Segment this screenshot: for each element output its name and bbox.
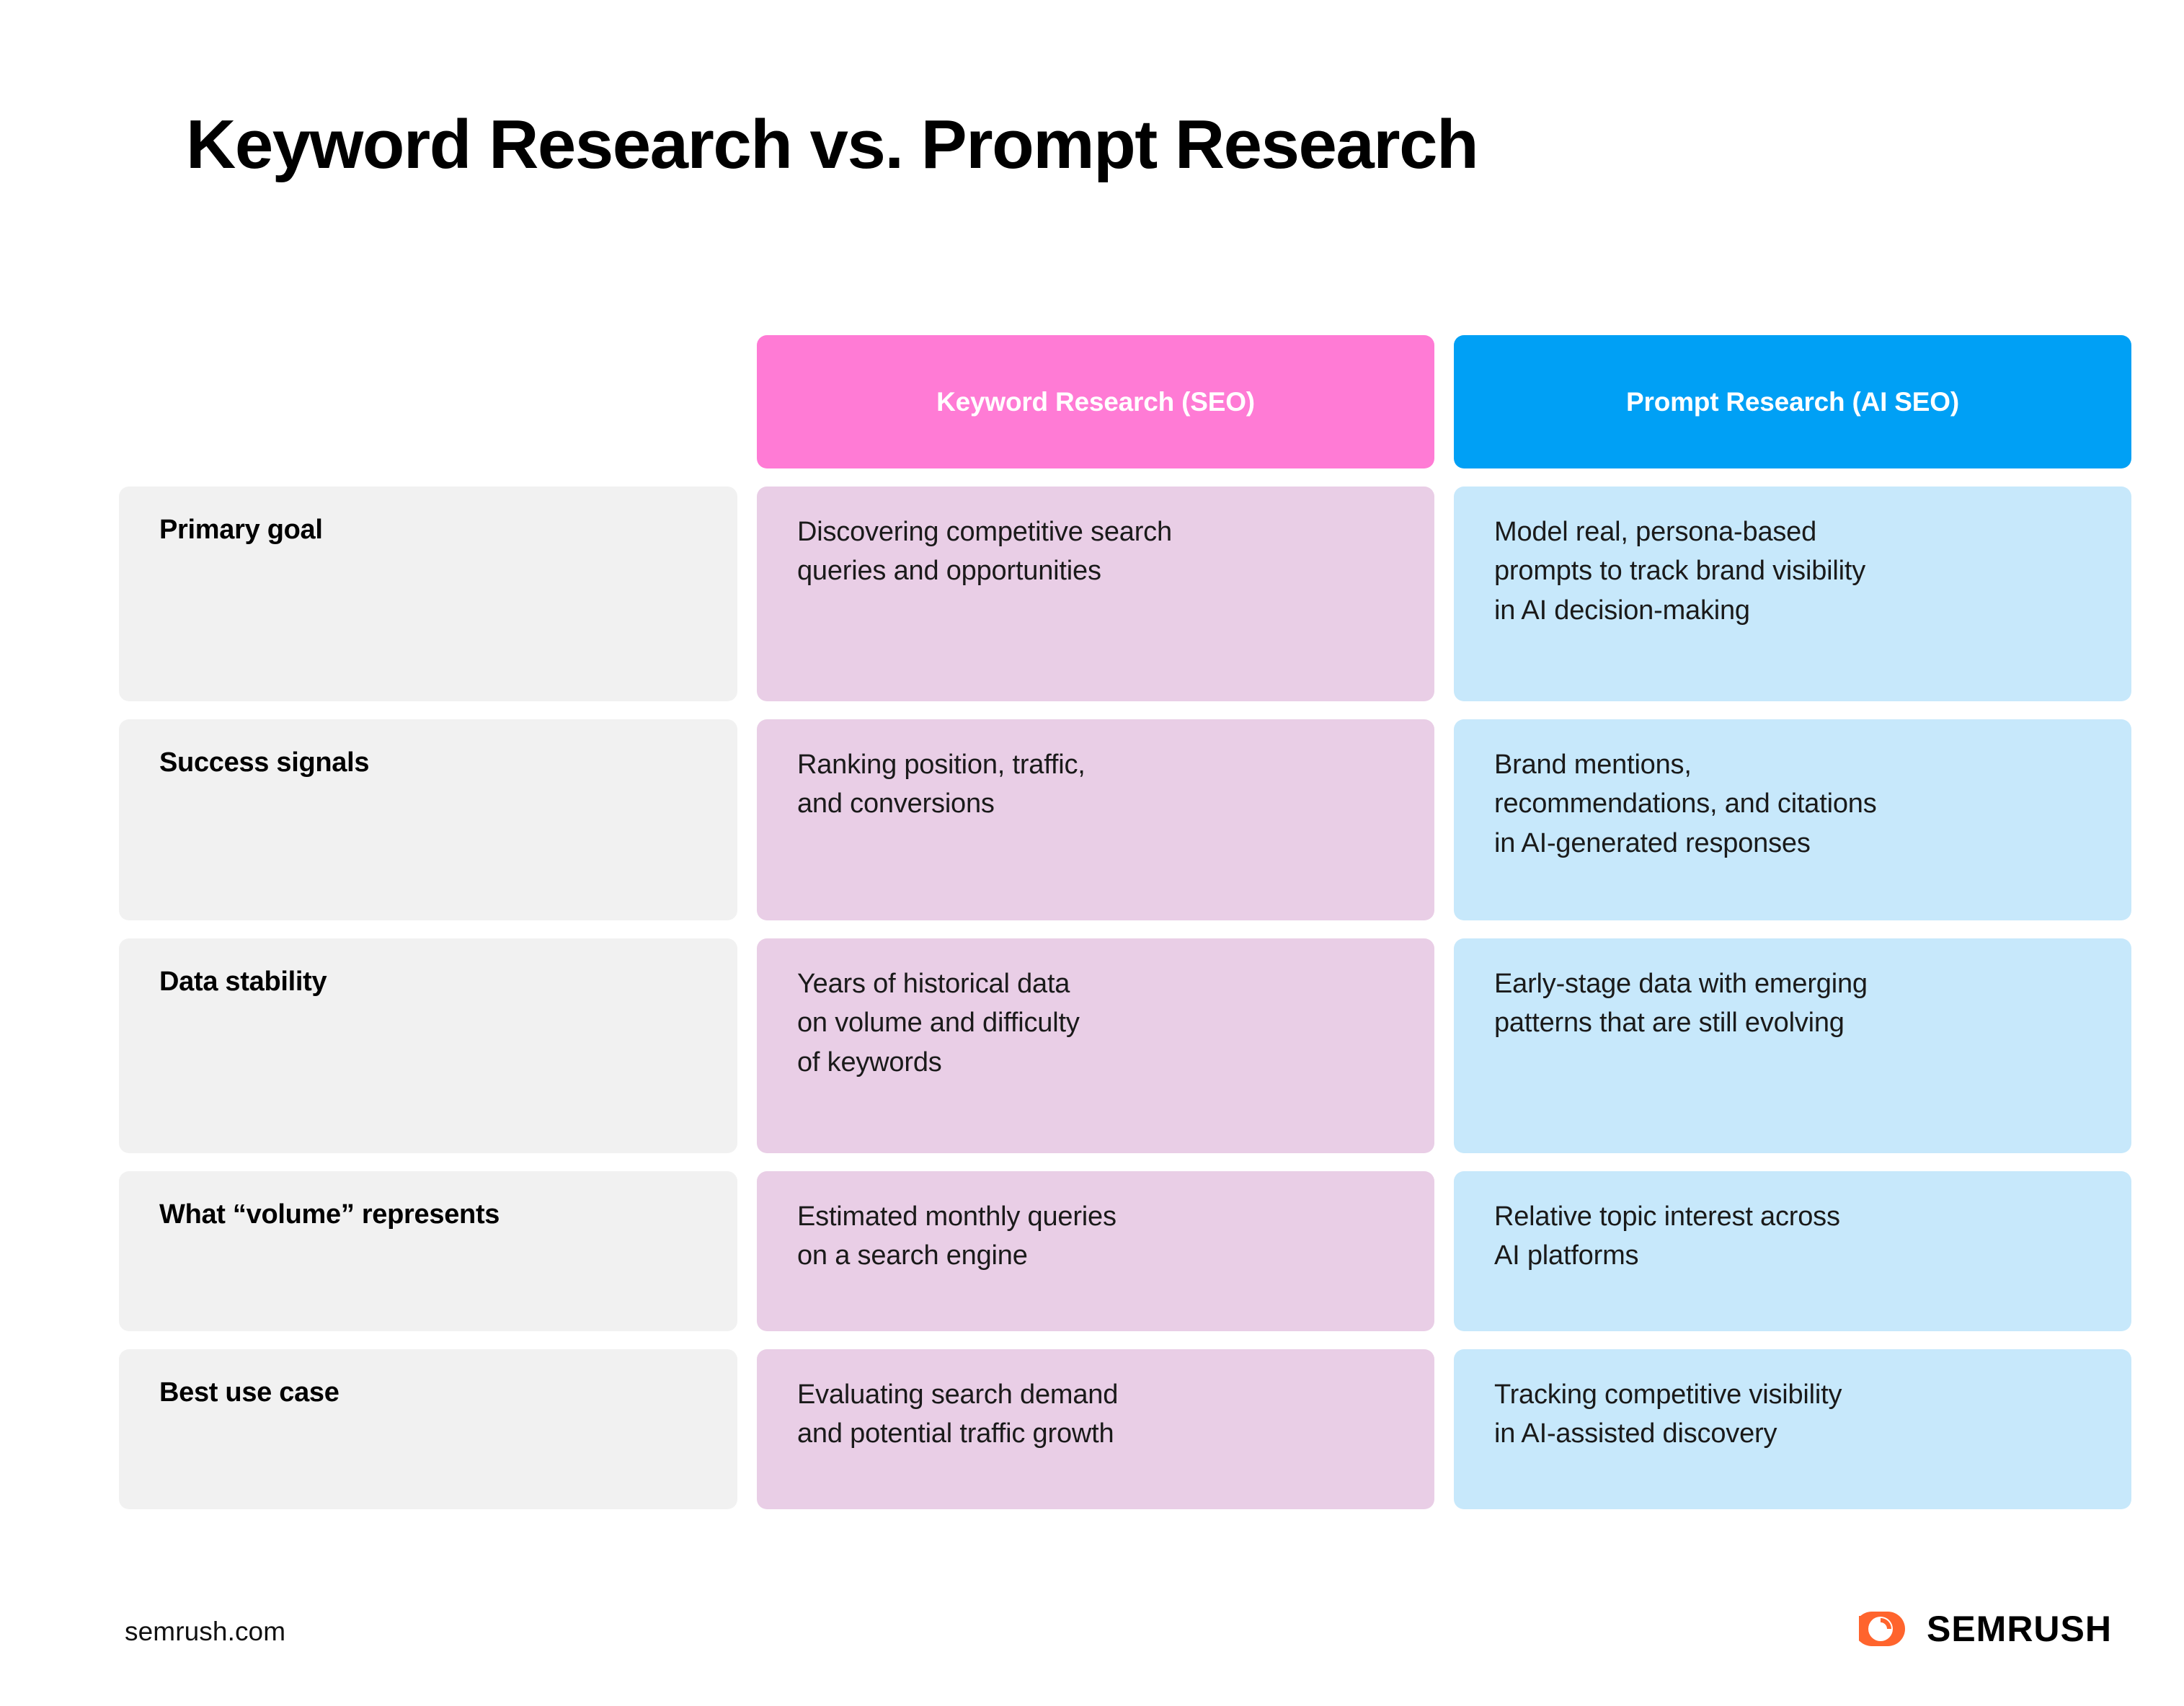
table-row: What “volume” represents Estimated month… [119, 1171, 2112, 1331]
row-keyword-cell: Estimated monthly queries on a search en… [757, 1171, 1434, 1331]
header-label-spacer [119, 335, 737, 468]
row-keyword-text: Years of historical data on volume and d… [797, 969, 1080, 1078]
row-prompt-cell: Early-stage data with emerging patterns … [1454, 938, 2131, 1153]
row-label-text: Primary goal [159, 512, 323, 548]
row-label-cell: What “volume” represents [119, 1171, 737, 1331]
row-label-cell: Best use case [119, 1349, 737, 1509]
header-keyword-label: Keyword Research (SEO) [757, 335, 1434, 468]
row-keyword-text: Estimated monthly queries on a search en… [797, 1201, 1117, 1271]
table-row: Data stability Years of historical data … [119, 938, 2112, 1153]
row-prompt-cell: Relative topic interest across AI platfo… [1454, 1171, 2131, 1331]
row-keyword-cell: Discovering competitive search queries a… [757, 487, 1434, 701]
semrush-logo: SEMRUSH [1859, 1609, 2112, 1649]
row-prompt-cell: Model real, persona-based prompts to tra… [1454, 487, 2131, 701]
header-prompt-label: Prompt Research (AI SEO) [1454, 335, 2131, 468]
row-label-cell: Primary goal [119, 487, 737, 701]
row-label-text: What “volume” represents [159, 1197, 500, 1232]
row-keyword-text: Evaluating search demand and potential t… [797, 1380, 1118, 1449]
row-label-cell: Data stability [119, 938, 737, 1153]
page-title: Keyword Research vs. Prompt Research [186, 107, 1478, 183]
row-label-text: Success signals [159, 745, 369, 781]
row-keyword-cell: Ranking position, traffic, and conversio… [757, 719, 1434, 920]
row-keyword-text: Ranking position, traffic, and conversio… [797, 750, 1086, 819]
row-label-text: Best use case [159, 1375, 339, 1410]
row-prompt-text: Model real, persona-based prompts to tra… [1494, 517, 1865, 626]
footer-source-url: semrush.com [125, 1617, 285, 1647]
row-keyword-cell: Evaluating search demand and potential t… [757, 1349, 1434, 1509]
row-label-text: Data stability [159, 964, 327, 1000]
row-prompt-text: Tracking competitive visibility in AI-as… [1494, 1380, 1842, 1449]
table-row: Best use case Evaluating search demand a… [119, 1349, 2112, 1509]
header-cell-keyword-research: Keyword Research (SEO) [757, 335, 1434, 468]
row-label-cell: Success signals [119, 719, 737, 920]
row-prompt-text: Brand mentions, recommendations, and cit… [1494, 750, 1877, 858]
row-prompt-cell: Brand mentions, recommendations, and cit… [1454, 719, 2131, 920]
comparison-table: Keyword Research (SEO) Prompt Research (… [119, 335, 2112, 1527]
row-keyword-cell: Years of historical data on volume and d… [757, 938, 1434, 1153]
header-cell-prompt-research: Prompt Research (AI SEO) [1454, 335, 2131, 468]
semrush-comet-icon [1859, 1609, 1911, 1649]
row-prompt-text: Early-stage data with emerging patterns … [1494, 969, 1868, 1038]
table-row: Success signals Ranking position, traffi… [119, 719, 2112, 920]
semrush-wordmark: SEMRUSH [1927, 1611, 2112, 1647]
row-keyword-text: Discovering competitive search queries a… [797, 517, 1172, 586]
row-prompt-text: Relative topic interest across AI platfo… [1494, 1201, 1840, 1271]
table-header-row: Keyword Research (SEO) Prompt Research (… [119, 335, 2112, 468]
table-row: Primary goal Discovering competitive sea… [119, 487, 2112, 701]
infographic-page: Keyword Research vs. Prompt Research Key… [0, 0, 2184, 1706]
row-prompt-cell: Tracking competitive visibility in AI-as… [1454, 1349, 2131, 1509]
